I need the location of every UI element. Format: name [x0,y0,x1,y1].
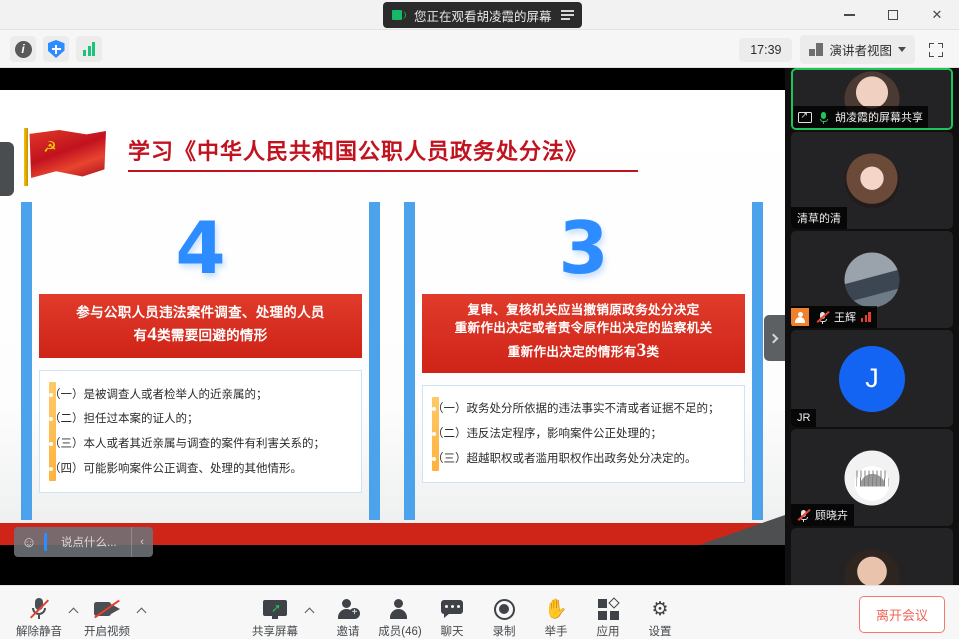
settings-button[interactable]: ⚙ 设置 [634,592,686,639]
list-item-text: （三）本人或者其近亲属与调查的案件有利害关系的； [49,437,325,451]
column-number: 3 [422,202,745,294]
participant-name: 顾晓卉 [815,507,848,523]
chat-button[interactable]: 聊天 [426,592,478,639]
participants-button[interactable]: 成员(46) [374,592,426,639]
heading-line-2: 有4类需要回避的情形 [45,322,356,349]
avatar [845,153,900,208]
participant-label: 王辉 [791,306,877,328]
settings-label: 设置 [649,623,672,639]
participants-label: 成员(46) [378,623,421,639]
list-item-text: （一）是被调查人或者检举人的近亲属的； [49,388,268,402]
zoom-meeting-window: 您正在观看胡凌霞的屏幕 ✕ i 17:39 演讲者视图 [0,0,959,639]
close-button[interactable]: ✕ [915,0,959,30]
list-item: （一）是被调查人或者检举人的近亲属的； [68,382,351,407]
chevron-down-icon [898,47,906,52]
invite-button[interactable]: + 邀请 [322,592,374,639]
participant-tile[interactable]: 清草的清 [791,132,953,229]
heading-line-1b: 重新作出决定或者责令原作出决定的监察机关 [426,320,741,338]
column-heading: 参与公职人员违法案件调查、处理的人员 有4类需要回避的情形 [39,294,362,358]
column-list: （一）政务处分所依据的违法事实不清或者证据不足的； （二）违反法定程序，影响案件… [451,397,734,471]
meeting-control-bar: 解除静音 开启视频 ➚ 共享屏幕 + [0,585,959,639]
column-accent-right [752,202,763,520]
close-icon: ✕ [932,7,943,23]
meeting-info-button[interactable]: i [10,36,36,62]
media-controls: 解除静音 开启视频 [12,592,148,639]
raise-hand-button[interactable]: ✋ 举手 [530,592,582,639]
participant-name: 王辉 [834,309,856,325]
security-shield-icon [48,40,65,58]
participant-label: 胡凌霞的屏幕共享 [793,106,928,128]
toolbar-right-controls: 17:39 演讲者视图 [739,35,949,64]
participant-name: JR [797,412,810,424]
chat-input-placeholder[interactable]: 说点什么... [47,534,131,550]
slide-column-1: 4 参与公职人员违法案件调查、处理的人员 有4类需要回避的情形 （一）是被调查人… [22,202,379,493]
list-item-text: （三）超越职权或者滥用职权作出政务处分决定的。 [432,452,697,466]
column-list-card: （一）政务处分所依据的违法事实不清或者证据不足的； （二）违反法定程序，影响案件… [422,385,745,483]
encryption-button[interactable] [43,36,69,62]
mic-muted-icon [797,509,810,522]
view-mode-selector[interactable]: 演讲者视图 [800,35,915,64]
heading-count: 4 [147,324,157,345]
chat-collapse-icon[interactable]: ‹ [131,527,153,557]
screen-share-icon [798,112,812,123]
participant-label: 清草的清 [791,207,847,229]
record-label: 录制 [493,623,516,639]
fullscreen-button[interactable] [923,37,949,63]
list-item: （四）可能影响案件公正调查、处理的其他情形。 [68,457,351,482]
share-screen-button[interactable]: ➚ 共享屏幕 [248,592,302,639]
column-list-card: （一）是被调查人或者检举人的近亲属的； （二）担任过本案的证人的； （三）本人或… [39,370,362,493]
camera-off-icon [94,596,120,622]
network-signal-icon [83,42,95,56]
shared-screen-stage[interactable]: ☭ 学习《中华人民共和国公职人员政务处分法》 4 参与公职人员违法案件调查、处理… [0,68,785,585]
host-badge-icon [791,308,809,326]
invite-label: 邀请 [337,623,360,639]
list-item: （三）本人或者其近亲属与调查的案件有利害关系的； [68,432,351,457]
list-item-text: （二）担任过本案的证人的； [49,412,199,426]
participant-label: JR [791,409,816,427]
window-controls: ✕ [827,0,959,30]
heading-prefix: 有 [133,328,147,343]
slide-columns: 4 参与公职人员违法案件调查、处理的人员 有4类需要回避的情形 （一）是被调查人… [22,202,762,493]
audio-options-arrow[interactable] [66,592,80,630]
participant-name: 清草的清 [797,210,841,226]
avatar-initial: J [839,346,905,412]
participant-tile[interactable]: 王辉 [791,231,953,328]
title-underline [128,170,638,172]
left-collapse-handle[interactable] [0,142,14,196]
avatar [845,450,900,505]
emoji-icon[interactable]: ☺ [14,527,44,557]
participant-tile[interactable] [791,528,953,585]
participant-name: 胡凌霞的屏幕共享 [835,109,923,125]
minimize-button[interactable] [827,0,871,30]
hamburger-icon[interactable] [561,10,574,20]
add-person-icon: + [337,596,359,622]
heading-prefix: 重新作出决定的情形有 [508,345,637,359]
participant-tile[interactable]: J JR [791,330,953,427]
chat-label: 聊天 [441,623,464,639]
list-item-text: （四）可能影响案件公正调查、处理的其他情形。 [49,462,302,476]
record-icon [494,596,515,622]
mic-active-icon [817,111,830,124]
slide-column-2: 3 复审、复核机关应当撤销原政务处分决定 重新作出决定或者责令原作出决定的监察机… [405,202,762,493]
list-item-text: （一）政务处分所依据的违法事实不清或者证据不足的； [432,402,720,416]
apps-grid-icon [598,596,619,622]
raise-hand-label: 举手 [545,623,568,639]
list-item: （三）超越职权或者滥用职权作出政务处分决定的。 [451,446,734,471]
gear-icon: ⚙ [651,596,668,622]
right-collapse-handle[interactable] [764,315,785,361]
list-item-text: （二）违反法定程序，影响案件公正处理的； [432,427,662,441]
stage-letterbox-top [0,68,785,90]
maximize-button[interactable] [871,0,915,30]
chevron-right-icon [769,333,779,343]
network-signal-icon [861,312,871,322]
title-bar: 您正在观看胡凌霞的屏幕 ✕ [0,0,959,30]
clock: 17:39 [739,38,792,62]
column-accent-left [21,202,32,520]
heading-suffix: 类 [646,345,659,359]
participant-tile-active-share[interactable]: 胡凌霞的屏幕共享 [791,68,953,130]
column-heading: 复审、复核机关应当撤销原政务处分决定 重新作出决定或者责令原作出决定的监察机关 … [422,294,745,373]
share-options-arrow[interactable] [302,592,316,630]
chat-bubble-icon [441,596,463,622]
heading-line-1: 参与公职人员违法案件调查、处理的人员 [45,303,356,322]
video-options-arrow[interactable] [134,592,148,630]
party-flag-icon: ☭ [28,130,106,178]
apps-button[interactable]: 应用 [582,592,634,639]
screen-share-notice[interactable]: 您正在观看胡凌霞的屏幕 [383,2,582,28]
slide-title: 学习《中华人民共和国公职人员政务处分法》 [128,134,658,166]
fullscreen-icon [929,43,943,57]
heading-suffix: 类需要回避的情形 [157,328,267,343]
heading-line-1: 复审、复核机关应当撤销原政务处分决定 [426,302,741,320]
avatar [845,252,900,307]
raise-hand-icon: ✋ [544,596,568,622]
info-icon: i [15,41,32,58]
meeting-actions: + 邀请 成员(46) 聊天 录制 ✋ [322,592,686,639]
participant-filmstrip[interactable]: 胡凌霞的屏幕共享 清草的清 王辉 J JR [785,68,959,585]
participant-label: 顾晓卉 [791,504,854,526]
list-item: （一）政务处分所依据的违法事实不清或者证据不足的； [451,397,734,422]
heading-line-2: 重新作出决定的情形有3类 [426,338,741,365]
network-status-button[interactable] [76,36,102,62]
list-item: （二）违反法定程序，影响案件公正处理的； [451,422,734,447]
heading-count: 3 [637,340,647,361]
sharing-notice-text: 您正在观看胡凌霞的屏幕 [414,6,552,25]
meeting-info-toolbar: i 17:39 演讲者视图 [0,30,959,68]
unmute-button[interactable]: 解除静音 [12,592,66,639]
column-accent-right [369,202,380,520]
apps-label: 应用 [597,623,620,639]
toolbar-left-icons: i [10,36,102,62]
view-mode-label: 演讲者视图 [829,40,892,59]
leave-meeting-button[interactable]: 离开会议 [859,596,945,633]
list-item: （二）担任过本案的证人的； [68,407,351,432]
speaker-icon [392,9,407,21]
participants-icon [389,596,411,622]
share-screen-label: 共享屏幕 [252,623,298,639]
record-button[interactable]: 录制 [478,592,530,639]
speaker-view-icon [809,43,823,56]
column-list: （一）是被调查人或者检举人的近亲属的； （二）担任过本案的证人的； （三）本人或… [68,382,351,481]
mic-muted-icon [29,596,49,622]
start-video-label: 开启视频 [84,623,130,639]
start-video-button[interactable]: 开启视频 [80,592,134,639]
mic-muted-icon [816,311,829,324]
share-screen-icon: ➚ [263,596,287,622]
participant-tile[interactable]: 顾晓卉 [791,429,953,526]
column-accent-left [404,202,415,520]
avatar [845,549,900,585]
unmute-label: 解除静音 [16,623,62,639]
share-controls: ➚ 共享屏幕 [248,592,316,639]
floating-chat-input[interactable]: ☺ 说点什么... ‹ [14,527,153,557]
presentation-slide: ☭ 学习《中华人民共和国公职人员政务处分法》 4 参与公职人员违法案件调查、处理… [0,90,785,545]
column-number: 4 [39,202,362,294]
